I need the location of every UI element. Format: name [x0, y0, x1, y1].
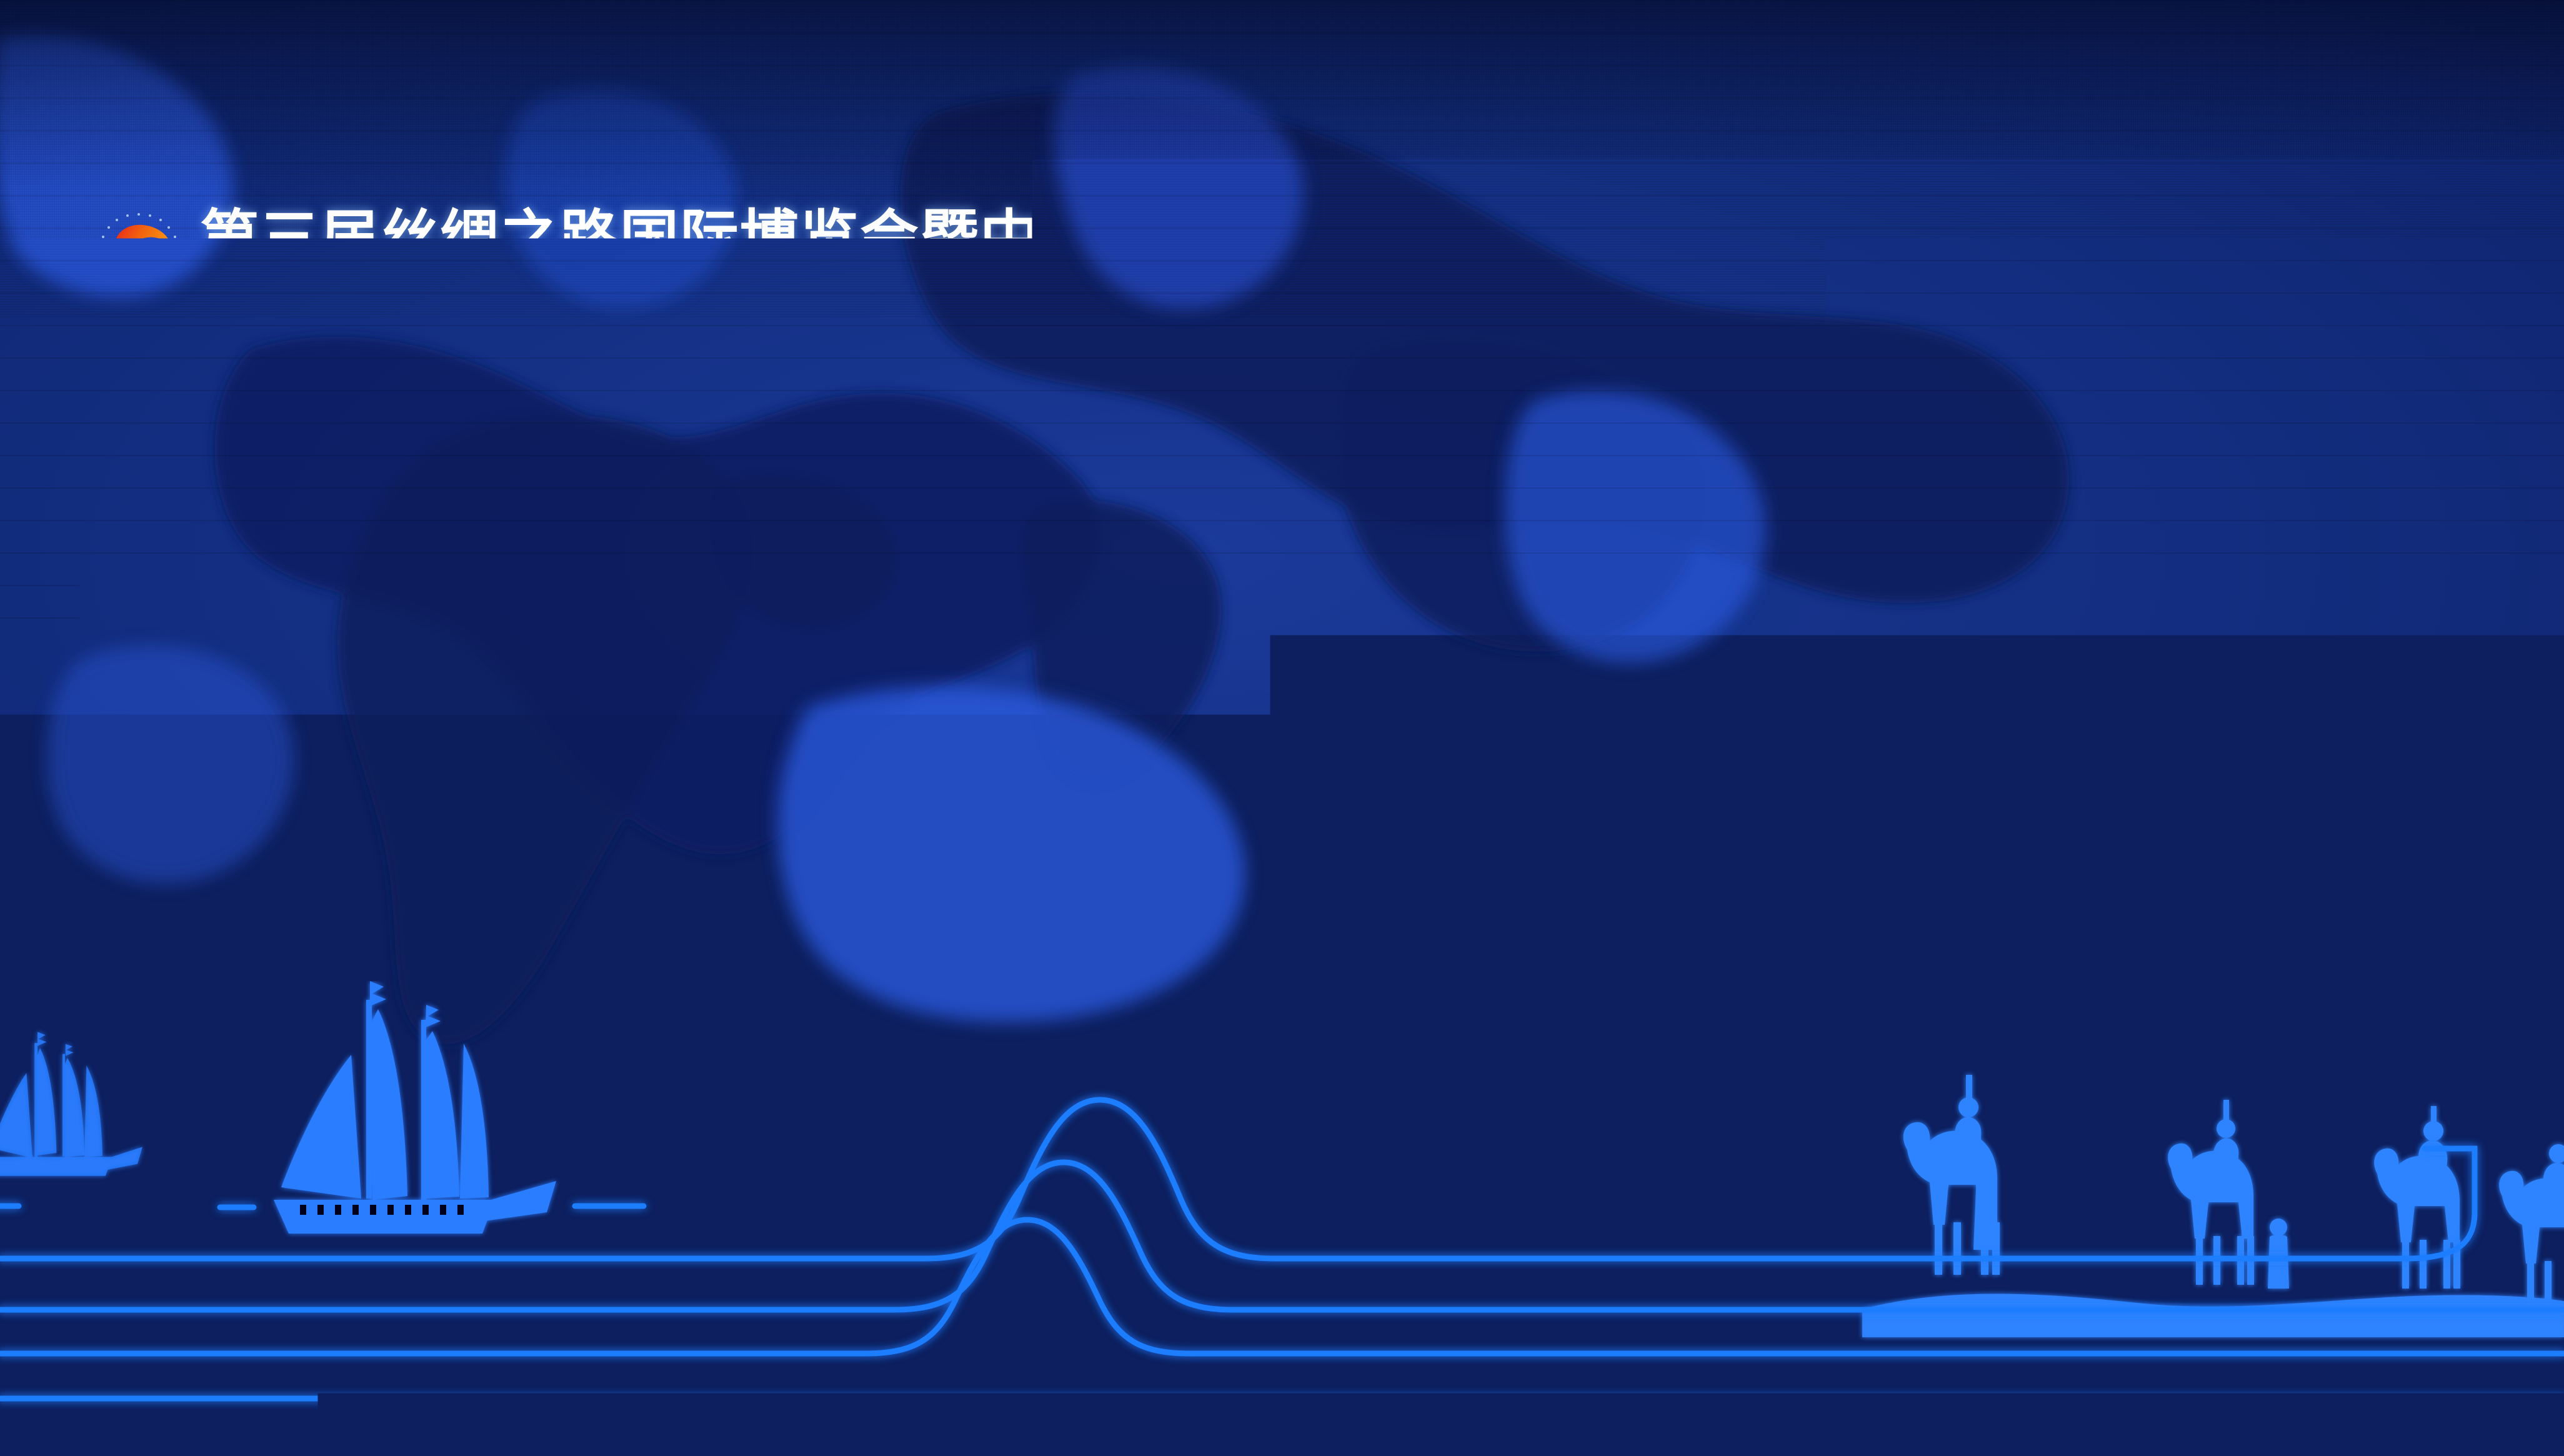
- venue-city-cn: 西安: [1174, 942, 1254, 985]
- title-calligraphy: 丝绸之路·: [790, 475, 1358, 610]
- venue-city-en: Xi'an China: [1279, 942, 1502, 985]
- title-year: 2018: [526, 484, 782, 601]
- venue-country-cn: 中国: [1062, 942, 1142, 985]
- venue-separator: ·: [1151, 942, 1165, 985]
- title-main-cn: 品牌国际论坛: [1364, 487, 2038, 597]
- sailing-ships-silhouette: [0, 981, 556, 1234]
- event-header: 第三届丝绸之路国际博览会暨中国东西部合作与投资贸易洽谈会 The Third S…: [94, 206, 2518, 304]
- venue-line: 中国·西安Xi'an China: [1062, 931, 1502, 987]
- header-title-en: The Third Silk Road International Exposi…: [200, 274, 1880, 301]
- main-title-block: 2018 丝绸之路· 品牌国际论坛 SILK ROAD BRAND INTERN…: [0, 481, 2564, 649]
- event-backdrop-screen: 第三届丝绸之路国际博览会暨中国东西部合作与投资贸易洽谈会 The Third S…: [0, 0, 2564, 1456]
- main-title-row: 2018 丝绸之路· 品牌国际论坛: [526, 481, 2038, 604]
- silk-road-expo-emblem-icon: [94, 209, 184, 304]
- camel-caravan-silhouette: [1862, 1075, 2564, 1337]
- header-title-cn: 第三届丝绸之路国际博览会暨中国东西部合作与投资贸易洽谈会: [200, 207, 1880, 267]
- bottom-decoration: [0, 981, 2564, 1456]
